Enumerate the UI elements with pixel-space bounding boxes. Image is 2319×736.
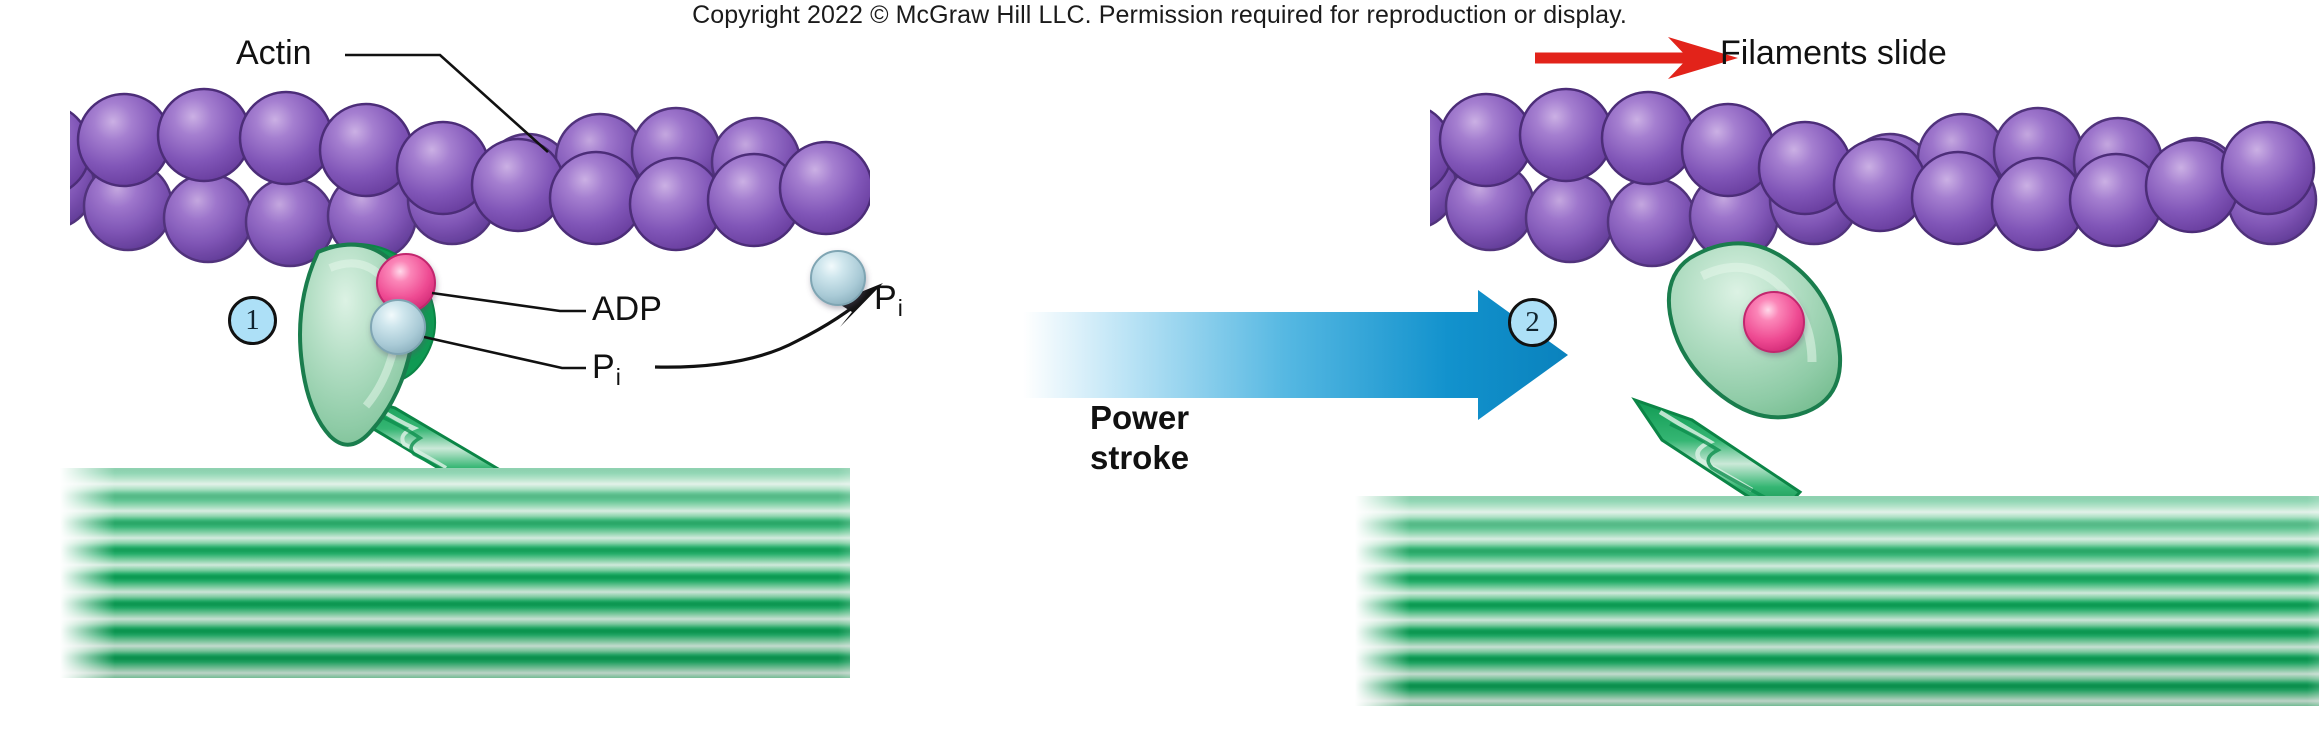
pi-released-subscript: i — [898, 295, 903, 321]
figure-canvas: Copyright 2022 © McGraw Hill LLC. Permis… — [0, 0, 2319, 736]
panel2-actin-filament — [1360, 89, 2316, 266]
filaments-slide-arrow — [1535, 37, 1738, 79]
pi-bound-letter: P — [592, 348, 615, 386]
step-badge-2: 2 — [1508, 298, 1557, 347]
filaments-slide-label: Filaments slide — [1720, 36, 1947, 70]
panel1-pi-sphere-released — [811, 251, 865, 305]
power-stroke-label: Power stroke — [1090, 398, 1189, 478]
actin-label: Actin — [236, 36, 312, 70]
panel2-adp-sphere — [1744, 292, 1804, 352]
panel1-thick-filament — [60, 468, 850, 678]
panel2-thick-filament — [1355, 496, 2319, 706]
adp-label: ADP — [592, 292, 662, 326]
pi-released-letter: P — [874, 279, 897, 317]
pi-released-label: Pi — [874, 281, 902, 315]
pi-bound-label: Pi — [592, 350, 620, 384]
panel1-pi-sphere-bound — [371, 300, 425, 354]
step-badge-1: 1 — [228, 296, 277, 345]
pi-bound-subscript: i — [616, 364, 621, 390]
panel1-actin-filament — [0, 89, 872, 266]
